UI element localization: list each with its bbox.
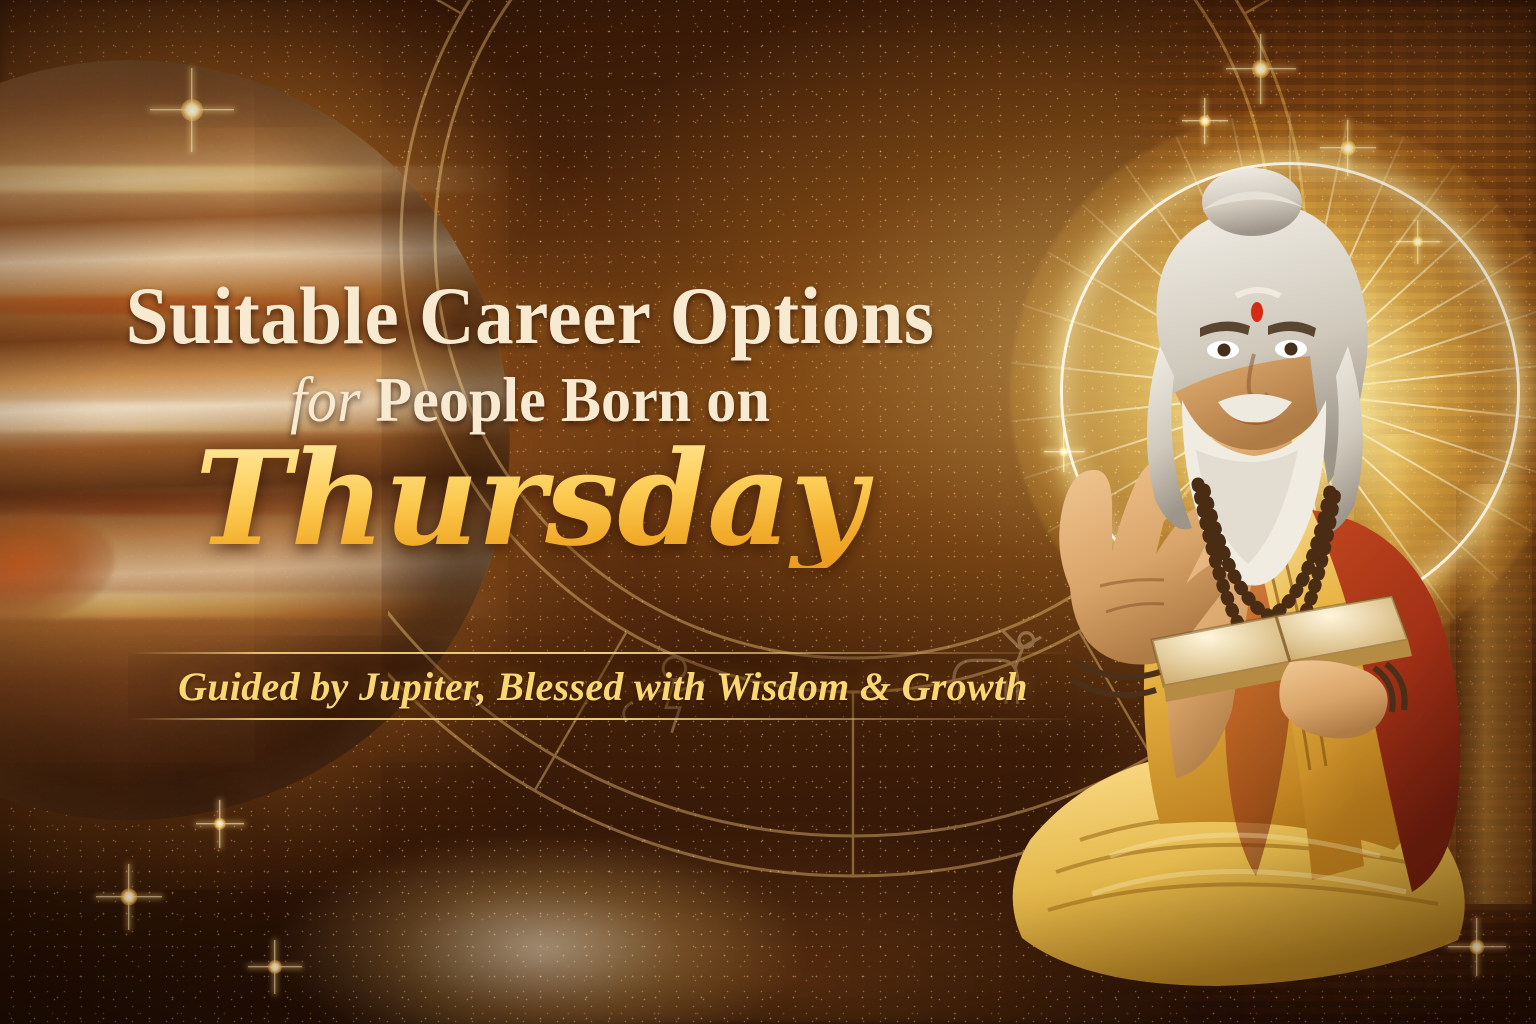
subtitle-band: Guided by Jupiter, Blessed with Wisdom &… [128,652,1078,720]
headline-block: Suitable Career Options for People Born … [0,276,1060,568]
highlight-day-word: Thursday [0,430,1060,568]
page-title: Suitable Career Options [32,276,1028,356]
divider-line-bottom [128,718,1078,720]
subtitle-text: Guided by Jupiter, Blessed with Wisdom &… [128,652,1078,720]
thursday-career-banner: Suitable Career Options for People Born … [0,0,1536,1024]
